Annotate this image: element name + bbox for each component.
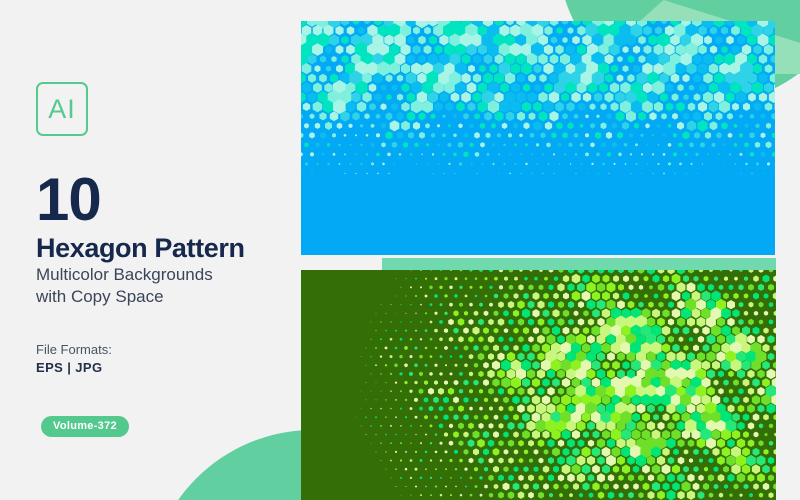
ai-badge-label: AI xyxy=(48,96,76,123)
preview-blue-hexagon-pattern xyxy=(301,21,775,255)
info-column: AI 10 Hexagon Pattern Multicolor Backgro… xyxy=(36,0,296,500)
item-count: 10 xyxy=(36,170,101,230)
file-formats-value: EPS | JPG xyxy=(36,360,103,375)
page-title: Hexagon Pattern xyxy=(36,234,245,264)
subtitle-line-1: Multicolor Backgrounds xyxy=(36,264,213,286)
volume-badge: Volume-372 xyxy=(41,416,129,437)
subtitle-line-2: with Copy Space xyxy=(36,286,213,308)
preview-green-hexagon-pattern xyxy=(301,270,776,500)
preview-green-accent-bar xyxy=(382,258,776,270)
file-formats-label: File Formats: xyxy=(36,342,112,357)
hexagon-halftone-blue xyxy=(301,21,775,255)
ai-format-badge: AI xyxy=(36,82,88,136)
poster-canvas: AI 10 Hexagon Pattern Multicolor Backgro… xyxy=(0,0,800,500)
hexagon-halftone-green xyxy=(301,270,776,500)
page-subtitle: Multicolor Backgrounds with Copy Space xyxy=(36,264,213,309)
